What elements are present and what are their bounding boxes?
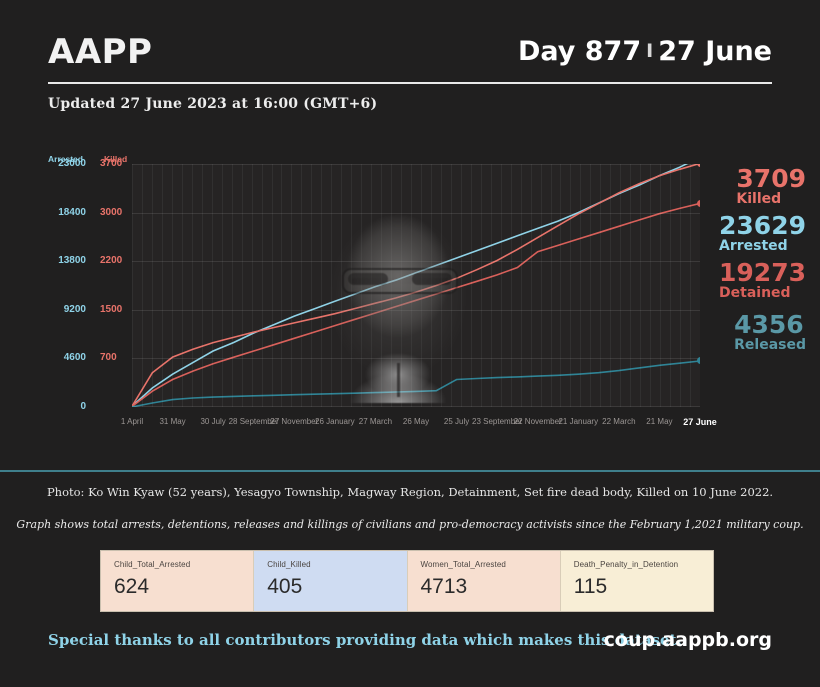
y-tick-arrested-2: 13800 — [34, 255, 86, 266]
card-title-1: Child_Killed — [267, 560, 406, 569]
x-tick-6: 27 March — [359, 417, 392, 426]
vertical-gridline — [182, 164, 183, 407]
victim-photo-watermark — [314, 194, 482, 399]
photo-caption: Photo: Ko Win Kyaw (52 years), Yesagyo T… — [0, 485, 820, 499]
y-tick-arrested-3: 9200 — [34, 304, 86, 315]
stat-detained: 19273Detained — [719, 260, 806, 301]
x-tick-13: 21 May — [646, 417, 672, 426]
vertical-gridline — [272, 164, 273, 407]
vertical-gridline — [670, 164, 671, 407]
glasses-icon — [342, 268, 458, 294]
section-divider — [0, 470, 820, 472]
vertical-gridline — [580, 164, 581, 407]
vertical-gridline — [690, 164, 691, 407]
endpoint-detained — [697, 200, 701, 207]
vertical-gridline — [630, 164, 631, 407]
vertical-gridline — [242, 164, 243, 407]
vertical-gridline — [511, 164, 512, 407]
card-child_killed: Child_Killed405 — [253, 551, 406, 611]
vertical-gridline — [600, 164, 601, 407]
horizontal-gridline — [132, 164, 700, 165]
stat-value-released: 4356 — [734, 312, 806, 337]
x-tick-7: 26 May — [403, 417, 429, 426]
y-tick-killed-2: 2200 — [100, 255, 128, 266]
brand-title: AAPP — [48, 32, 152, 72]
x-tick-1: 31 May — [159, 417, 185, 426]
stat-killed: 3709Killed — [736, 166, 806, 207]
x-tick-14: 27 June — [683, 417, 717, 427]
card-title-0: Child_Total_Arrested — [114, 560, 253, 569]
stat-label-arrested: Arrested — [719, 238, 806, 254]
vertical-gridline — [291, 164, 292, 407]
day-separator: I — [641, 40, 658, 62]
aapp-infographic: AAPP Day 877I27 June Updated 27 June 202… — [0, 0, 820, 687]
y-tick-killed-1: 3000 — [100, 207, 128, 218]
x-tick-5: 26 January — [315, 417, 355, 426]
plot-area — [132, 164, 700, 407]
day-counter: Day 877I27 June — [518, 36, 772, 67]
vertical-gridline — [262, 164, 263, 407]
vertical-gridline — [162, 164, 163, 407]
card-value-1: 405 — [267, 575, 406, 599]
x-tick-10: 22 November — [514, 417, 562, 426]
card-title-2: Women_Total_Arrested — [421, 560, 560, 569]
card-women_total_arrested: Women_Total_Arrested4713 — [407, 551, 560, 611]
vertical-gridline — [531, 164, 532, 407]
vertical-gridline — [620, 164, 621, 407]
stat-value-arrested: 23629 — [719, 213, 806, 238]
y-tick-arrested-5: 0 — [34, 401, 86, 412]
summary-cards: Child_Total_Arrested624Child_Killed405Wo… — [100, 550, 714, 612]
stat-released: 4356Released — [734, 312, 806, 353]
stat-label-released: Released — [734, 337, 806, 353]
y-tick-killed-3: 1500 — [100, 304, 128, 315]
x-tick-12: 22 March — [602, 417, 635, 426]
chart: Arrested Killed 230001840013800920046000… — [0, 140, 820, 440]
stat-arrested: 23629Arrested — [719, 213, 806, 254]
updated-timestamp: Updated 27 June 2023 at 16:00 (GMT+6) — [48, 96, 377, 112]
x-tick-4: 27 November — [270, 417, 318, 426]
vertical-gridline — [590, 164, 591, 407]
stat-label-detained: Detained — [719, 285, 806, 301]
website-link[interactable]: coup.aappb.org — [604, 629, 772, 651]
vertical-gridline — [570, 164, 571, 407]
vertical-gridline — [232, 164, 233, 407]
vertical-gridline — [281, 164, 282, 407]
stat-value-killed: 3709 — [736, 166, 806, 191]
vertical-gridline — [660, 164, 661, 407]
header: AAPP Day 877I27 June — [48, 30, 772, 88]
vertical-gridline — [152, 164, 153, 407]
card-value-0: 624 — [114, 575, 253, 599]
header-date: 27 June — [658, 36, 772, 67]
vertical-gridline — [132, 164, 133, 407]
x-tick-0: 1 April — [121, 417, 143, 426]
vertical-gridline — [610, 164, 611, 407]
horizontal-gridline — [132, 406, 700, 407]
vertical-gridline — [680, 164, 681, 407]
card-title-3: Death_Penalty_in_Detention — [574, 560, 713, 569]
card-child_total_arrested: Child_Total_Arrested624 — [101, 551, 253, 611]
x-tick-2: 30 July — [200, 417, 225, 426]
y-tick-arrested-0: 23000 — [34, 158, 86, 169]
vertical-gridline — [501, 164, 502, 407]
vertical-gridline — [541, 164, 542, 407]
y-tick-killed-0: 3700 — [100, 158, 128, 169]
vertical-gridline — [640, 164, 641, 407]
vertical-gridline — [311, 164, 312, 407]
vertical-gridline — [551, 164, 552, 407]
vertical-gridline — [560, 164, 561, 407]
vertical-gridline — [222, 164, 223, 407]
header-rule — [48, 82, 772, 84]
vertical-gridline — [301, 164, 302, 407]
y-tick-arrested-1: 18400 — [34, 207, 86, 218]
vertical-gridline — [172, 164, 173, 407]
card-value-3: 115 — [574, 575, 713, 599]
vertical-gridline — [521, 164, 522, 407]
x-tick-8: 25 July — [444, 417, 469, 426]
y-tick-arrested-4: 4600 — [34, 352, 86, 363]
graph-caption: Graph shows total arrests, detentions, r… — [0, 518, 820, 531]
day-number: Day 877 — [518, 36, 641, 67]
stat-value-detained: 19273 — [719, 260, 806, 285]
vertical-gridline — [142, 164, 143, 407]
card-value-2: 4713 — [421, 575, 560, 599]
vertical-gridline — [202, 164, 203, 407]
stat-label-killed: Killed — [736, 191, 806, 207]
photo-collar — [332, 341, 464, 403]
thanks-text: Special thanks to all contributors provi… — [48, 631, 682, 649]
vertical-gridline — [650, 164, 651, 407]
vertical-gridline — [192, 164, 193, 407]
x-tick-11: 21 January — [558, 417, 598, 426]
y-tick-killed-4: 700 — [100, 352, 128, 363]
vertical-gridline — [212, 164, 213, 407]
card-death_penalty_in_detention: Death_Penalty_in_Detention115 — [560, 551, 713, 611]
vertical-gridline — [491, 164, 492, 407]
vertical-gridline — [252, 164, 253, 407]
